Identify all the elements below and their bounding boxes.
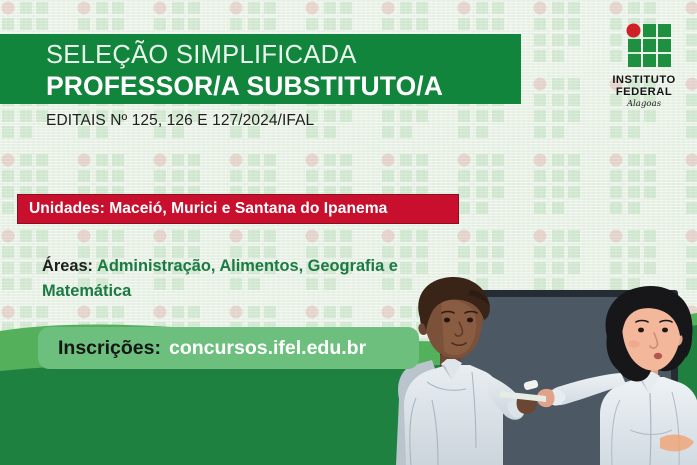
ifal-logo: INSTITUTO FEDERAL Alagoas [601, 22, 687, 112]
title-line-1: SELEÇÃO SIMPLIFICADA [46, 40, 521, 70]
inscricoes-url[interactable]: concursos.ifel.edu.br [169, 337, 366, 360]
poster-canvas: SELEÇÃO SIMPLIFICADA PROFESSOR/A SUBSTIT… [0, 0, 697, 465]
ifal-logo-grid-icon [601, 22, 687, 72]
areas-value: Administração, Alimentos, Geografia e Ma… [42, 257, 398, 300]
inscricoes-pill[interactable]: Inscrições: concursos.ifel.edu.br [38, 327, 419, 369]
bottom-green-waves [0, 285, 697, 465]
title-banner: SELEÇÃO SIMPLIFICADA PROFESSOR/A SUBSTIT… [0, 34, 521, 104]
areas-block: Áreas: Administração, Alimentos, Geograf… [42, 254, 452, 304]
units-text: Unidades: Maceió, Murici e Santana do Ip… [29, 200, 387, 218]
editais-text: EDITAIS Nº 125, 126 E 127/2024/IFAL [46, 112, 314, 130]
areas-label: Áreas: [42, 257, 93, 275]
inscricoes-label: Inscrições: [58, 337, 161, 360]
title-line-2: PROFESSOR/A SUBSTITUTO/A [46, 70, 521, 102]
logo-institute-line: INSTITUTO [601, 74, 687, 86]
logo-federal-line: FEDERAL [601, 86, 687, 98]
units-banner: Unidades: Maceió, Murici e Santana do Ip… [17, 194, 459, 224]
logo-state-line: Alagoas [601, 99, 687, 110]
